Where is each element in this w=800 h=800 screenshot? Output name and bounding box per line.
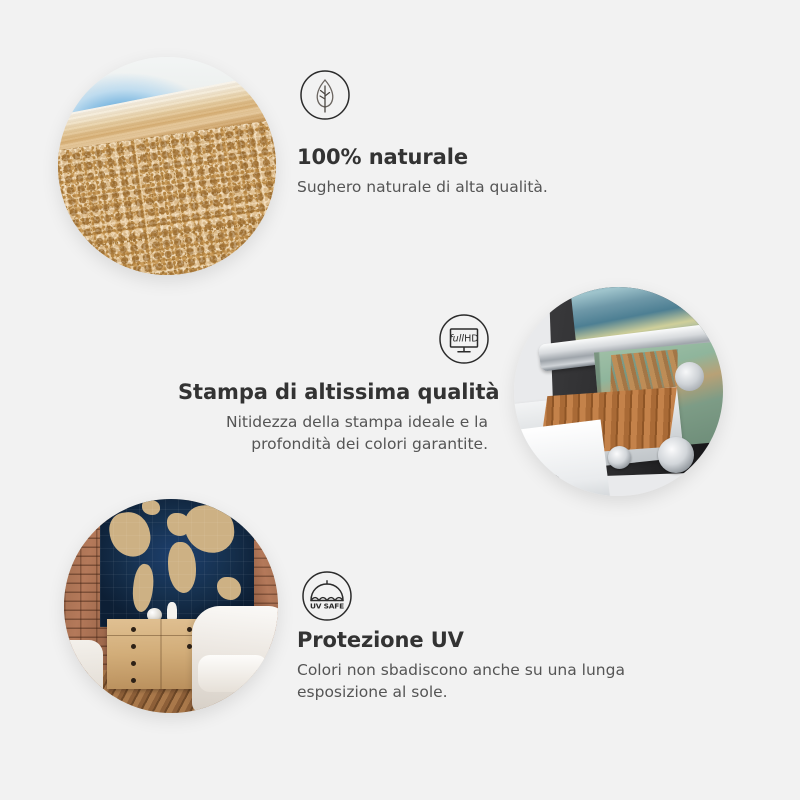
leaf-icon [299,69,351,121]
map-landmass [217,577,240,600]
map-landmass [142,500,160,515]
dresser-knob [131,678,136,683]
photo-armchair-left-region [64,640,103,713]
feature-text-natural: 100% naturale Sughero naturale di alta q… [297,145,548,198]
photo-armchair-right-region [192,606,278,713]
dresser-knob [187,627,192,632]
feature-highlights-panel: 100% naturale Sughero naturale di alta q… [0,0,800,800]
map-landmass [129,562,156,612]
photo-knob-region [658,437,694,473]
photo-content [514,287,723,496]
feature-description-natural: Sughero naturale di alta qualità. [297,176,548,198]
feature-text-uv-protection: Protezione UV Colori non sbadiscono anch… [297,628,677,704]
feature-description-print-quality: Nitidezza della stampa ideale e la profo… [178,411,488,456]
photo-white-panel-region [514,419,611,496]
uv-safe-umbrella-icon: UV SAFE [301,570,353,622]
dresser-knob [131,627,136,632]
dresser-knob [131,644,136,649]
map-landmass [167,513,190,536]
large-format-printer-photo [514,287,723,496]
dresser-knob [131,661,136,666]
map-landmass [107,509,153,559]
dresser-knob [187,644,192,649]
interior-world-map-mural-photo [64,499,278,713]
fullhd-monitor-icon: fullHD [438,313,490,365]
uv-safe-icon-label: UV SAFE [310,602,344,611]
photo-content [58,57,276,275]
feature-title-uv-protection: Protezione UV [297,628,677,652]
fullhd-icon-text-italic: fullHD [449,334,478,345]
feature-description-uv-protection: Colori non sbadiscono anche su una lunga… [297,659,677,704]
feature-title-print-quality: Stampa di altissima qualità [178,380,488,404]
cork-board-closeup-photo [58,57,276,275]
photo-content [64,499,278,713]
fullhd-icon-text-regular: HD [464,334,479,345]
feature-text-print-quality: Stampa di altissima qualità Nitidezza de… [178,380,488,456]
map-landmass [168,542,196,592]
feature-title-natural: 100% naturale [297,145,548,169]
photo-knob-region [608,446,631,469]
map-landmass [184,504,237,555]
